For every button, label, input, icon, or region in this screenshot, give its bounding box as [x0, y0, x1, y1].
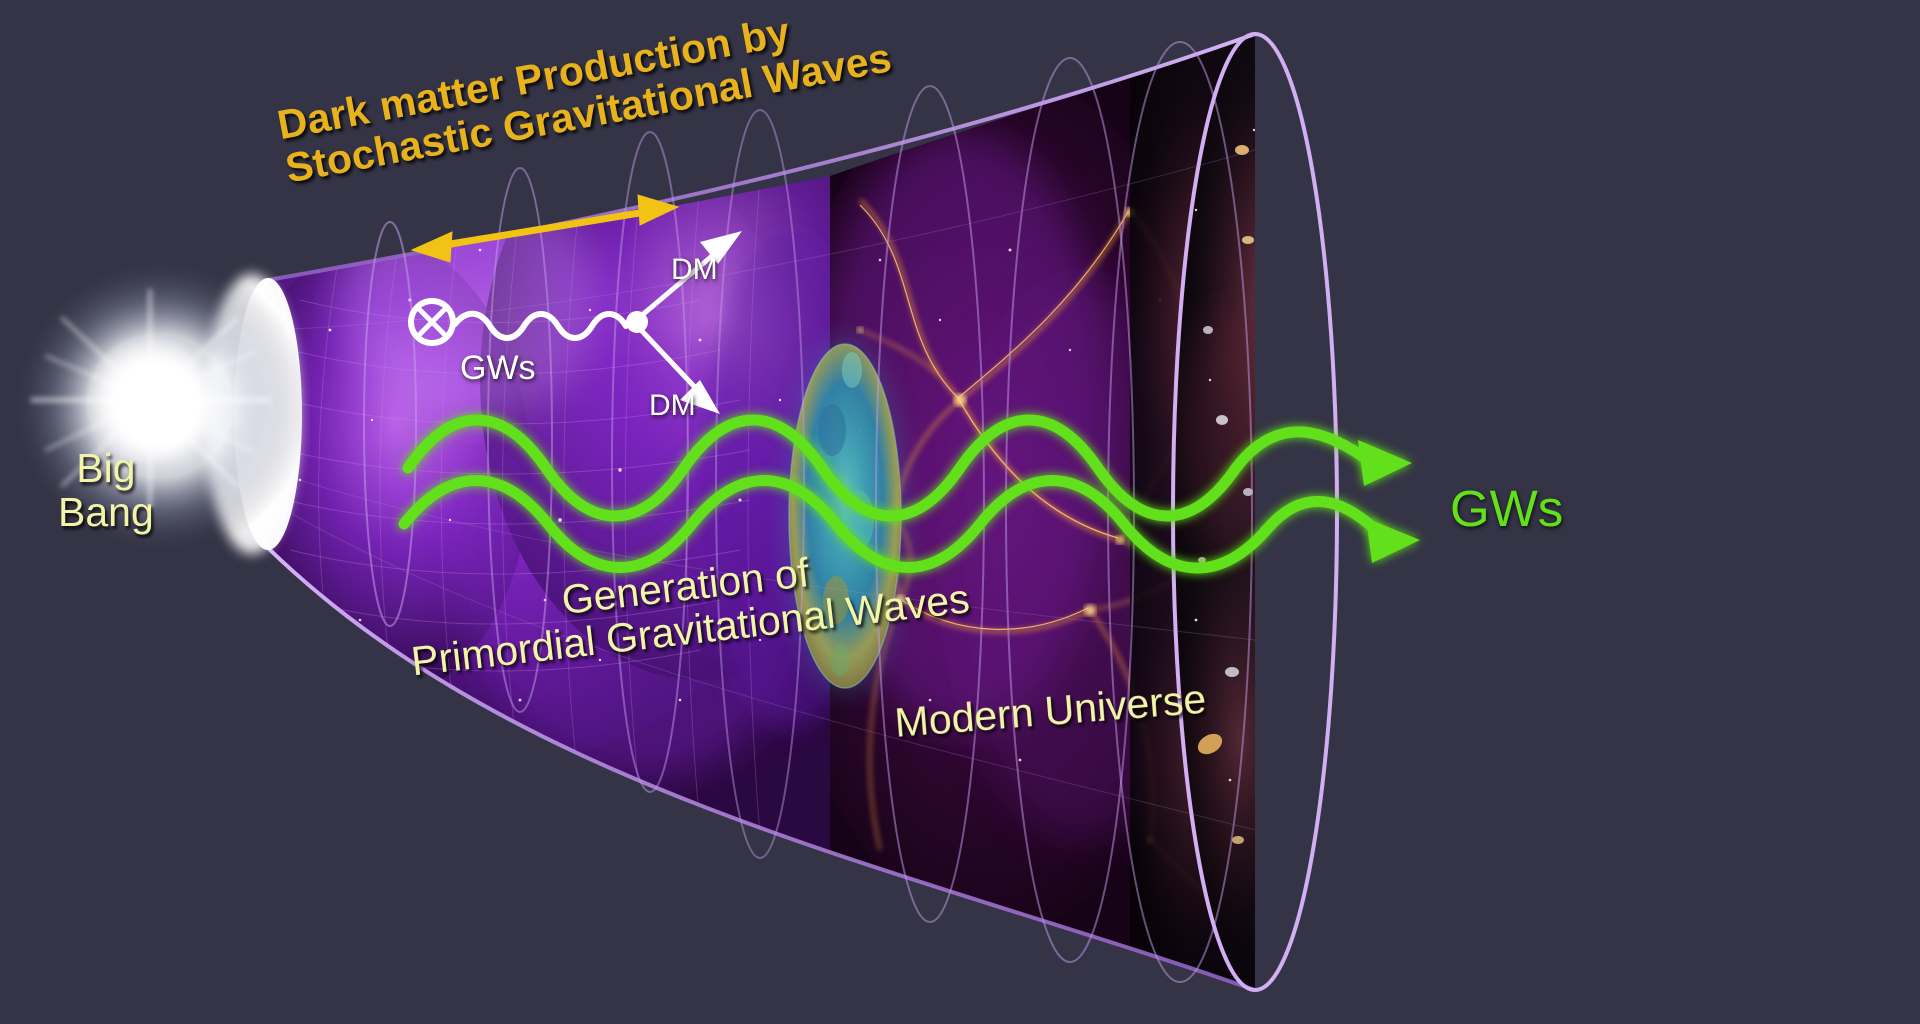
gws-source-label: GWs: [460, 350, 536, 387]
dm-label-upper: DM: [671, 254, 718, 286]
big-bang-label: Big Bang: [58, 446, 154, 535]
big-bang-line-2: Bang: [58, 489, 154, 535]
big-bang-flash: [10, 256, 310, 556]
cosmic-evolution-diagram: Dark matter Production by Stochastic Gra…: [0, 0, 1920, 1024]
gws-output-label: GWs: [1450, 481, 1563, 536]
dm-label-lower: DM: [649, 390, 696, 422]
big-bang-line-1: Big: [76, 445, 135, 491]
